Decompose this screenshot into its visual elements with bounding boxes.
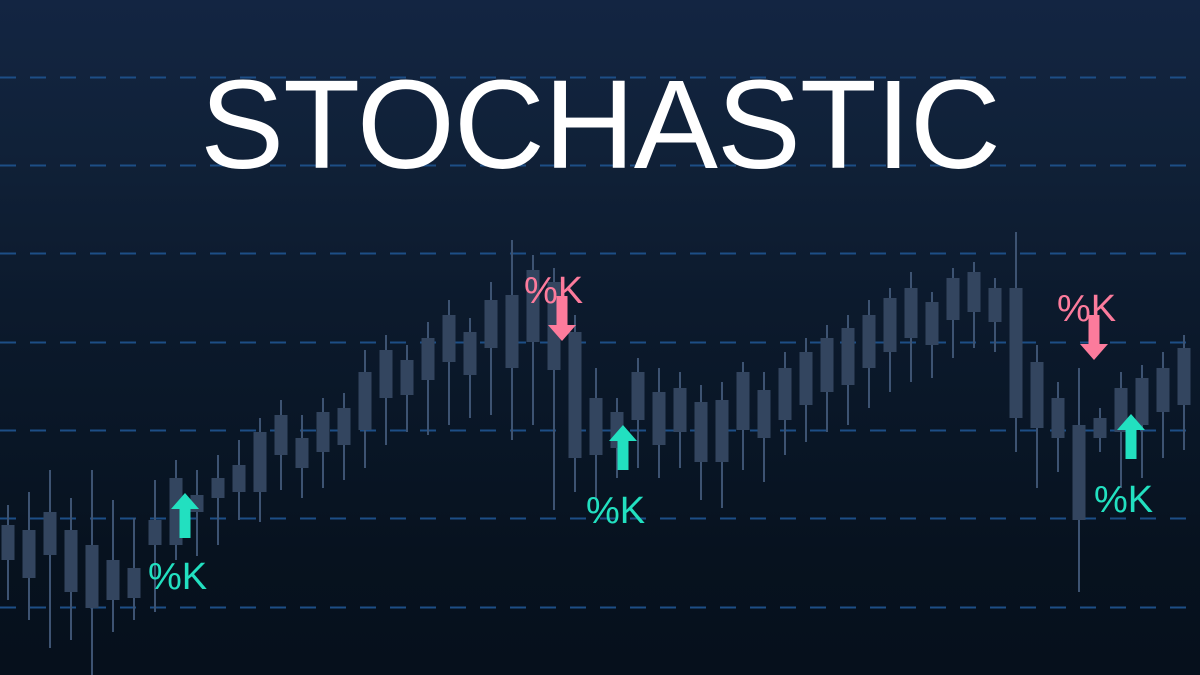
- arrow-up-icon: [608, 425, 638, 475]
- signal-label-buy-2: %K: [586, 492, 645, 530]
- arrow-up-icon: [1116, 414, 1146, 464]
- chart-canvas: STOCHASTIC %K%K%K%K%K: [0, 0, 1200, 675]
- signal-label-buy-3: %K: [1094, 481, 1153, 519]
- arrow-shape: [609, 425, 637, 470]
- signal-label-buy-1: %K: [148, 558, 207, 596]
- arrow-up-icon: [170, 493, 200, 543]
- arrow-shape: [171, 493, 199, 538]
- signal-label-sell-2: %K: [1057, 290, 1116, 328]
- signal-annotations: %K%K%K%K%K: [0, 0, 1200, 675]
- arrow-shape: [1117, 414, 1145, 459]
- signal-label-sell-1: %K: [524, 272, 583, 310]
